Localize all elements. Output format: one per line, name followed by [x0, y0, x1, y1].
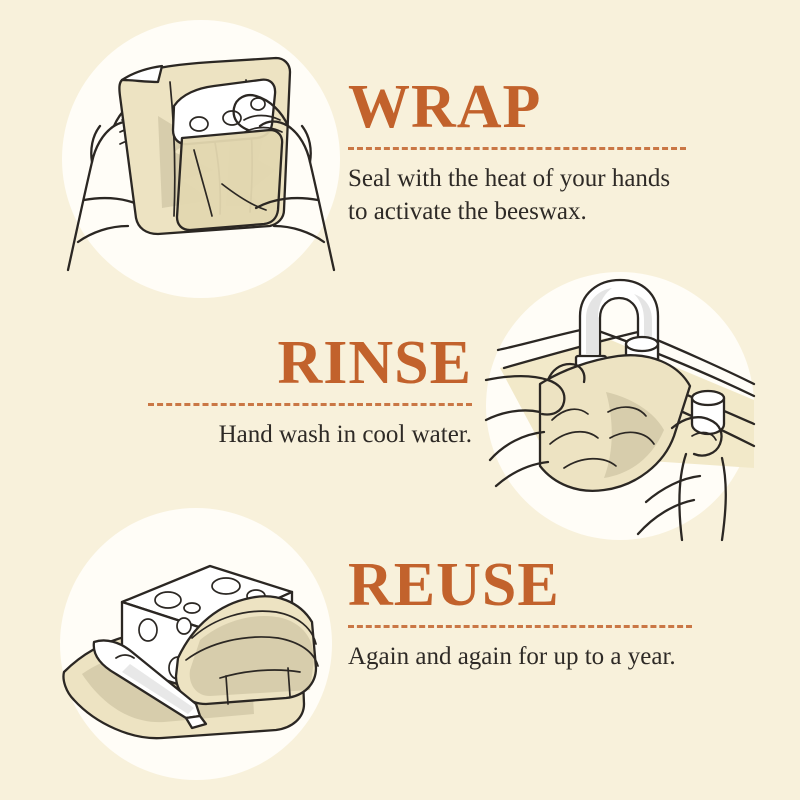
step-text-wrap: WRAP Seal with the heat of your hands to…	[348, 78, 692, 228]
step-body-rinse: Hand wash in cool water.	[146, 418, 472, 451]
infographic-root: WRAP Seal with the heat of your hands to…	[0, 0, 800, 800]
hands-wrapping-cheese-illustration	[62, 20, 340, 298]
illustration-medallion-reuse	[60, 508, 332, 780]
hands-washing-wrap-under-faucet-illustration	[486, 272, 754, 540]
divider-reuse	[348, 625, 692, 628]
divider-rinse	[148, 403, 472, 406]
step-title-wrap: WRAP	[348, 78, 692, 137]
step-body-reuse: Again and again for up to a year.	[348, 640, 694, 673]
step-text-rinse: RINSE Hand wash in cool water.	[146, 334, 472, 451]
illustration-medallion-rinse	[486, 272, 754, 540]
divider-wrap	[348, 147, 686, 150]
step-title-reuse: REUSE	[348, 556, 694, 615]
step-title-rinse: RINSE	[146, 334, 472, 393]
step-body-wrap: Seal with the heat of your hands to acti…	[348, 162, 692, 228]
wrapped-cheese-with-knife-illustration	[60, 508, 332, 780]
step-text-reuse: REUSE Again and again for up to a year.	[348, 556, 694, 673]
illustration-medallion-wrap	[62, 20, 340, 298]
